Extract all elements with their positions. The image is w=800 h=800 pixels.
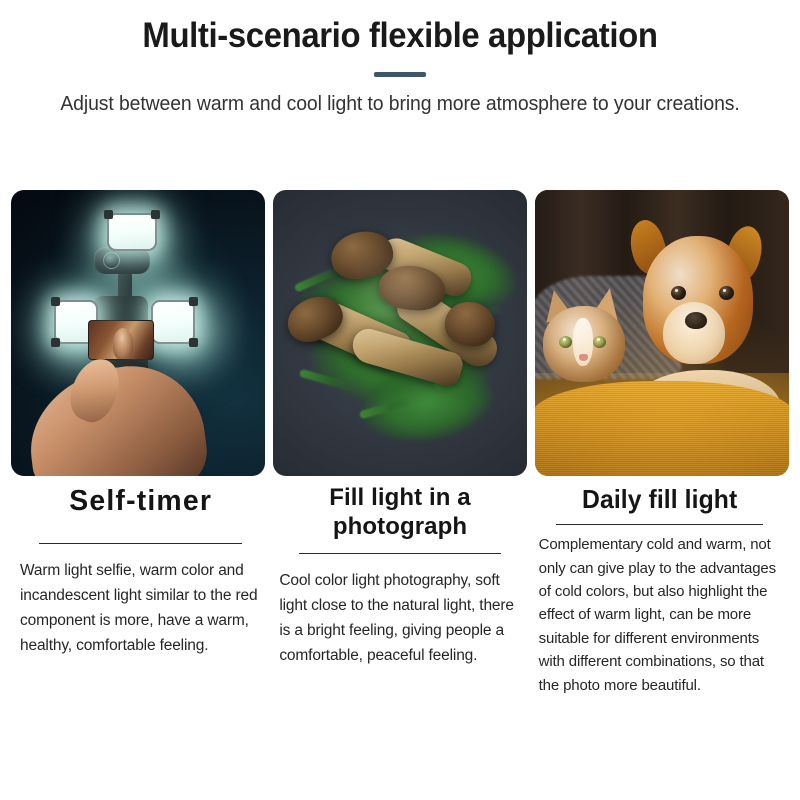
caption-divider xyxy=(556,524,764,525)
promo-page: Multi-scenario flexible application Adju… xyxy=(0,0,800,800)
photo-daily-fill-light[interactable] xyxy=(535,190,789,476)
cat-nose xyxy=(579,354,588,361)
led-light-right xyxy=(151,300,195,344)
caption-title: Self-timer xyxy=(22,484,259,519)
photo-gallery: OSMO xyxy=(0,190,800,476)
page-subtitle: Adjust between warm and cool light to br… xyxy=(12,90,788,120)
caption-body: Warm light selfie, warm color and incand… xyxy=(20,558,261,658)
caption-card-self-timer: Self-timer Warm light selfie, warm color… xyxy=(11,484,270,697)
page-header: Multi-scenario flexible application Adju… xyxy=(0,0,800,119)
caption-body: Complementary cold and warm, not only ca… xyxy=(539,533,780,697)
caption-divider xyxy=(299,553,502,554)
camera-lens-icon xyxy=(103,252,120,269)
title-accent-divider xyxy=(374,72,426,77)
caption-title: Fill light in a photograph xyxy=(279,484,520,542)
led-light-top xyxy=(107,213,157,251)
photo-self-timer[interactable]: OSMO xyxy=(11,190,265,476)
dog-nose xyxy=(685,312,707,329)
caption-title: Daily fill light xyxy=(545,484,774,515)
dog-eye-right xyxy=(719,286,734,300)
page-title: Multi-scenario flexible application xyxy=(24,14,776,58)
caption-card-daily-fill-light: Daily fill light Complementary cold and … xyxy=(530,484,789,697)
cat-eye-right xyxy=(593,336,606,348)
caption-card-fill-light-photograph: Fill light in a photograph Cool color li… xyxy=(270,484,529,697)
camera-screen-preview xyxy=(88,320,154,360)
dog-eye-left xyxy=(671,286,686,300)
cat-eye-left xyxy=(559,336,572,348)
caption-body: Cool color light photography, soft light… xyxy=(279,568,520,668)
caption-gallery: Self-timer Warm light selfie, warm color… xyxy=(0,484,800,697)
soft-light-highlight xyxy=(333,240,463,350)
photo-fill-light-photograph[interactable] xyxy=(273,190,527,476)
caption-divider xyxy=(39,543,242,544)
yellow-couch xyxy=(535,381,789,476)
